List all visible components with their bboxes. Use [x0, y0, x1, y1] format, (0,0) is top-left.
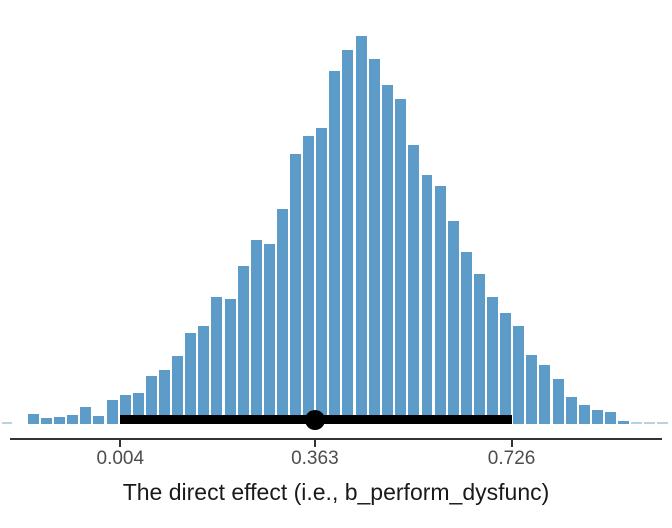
histogram-bar — [592, 410, 603, 424]
histogram-bar — [107, 400, 118, 424]
histogram-bar — [618, 421, 629, 424]
histogram-bar — [526, 355, 537, 424]
histogram-bar — [28, 414, 39, 424]
histogram-bar — [631, 422, 642, 424]
histogram-bar — [329, 71, 340, 424]
histogram-bars — [0, 0, 672, 424]
histogram-bar — [539, 365, 550, 424]
x-axis-tick-label: 0.726 — [488, 448, 536, 470]
histogram-bar — [487, 297, 498, 424]
histogram-bar — [185, 333, 196, 424]
histogram-bar — [277, 209, 288, 424]
histogram-bar — [382, 85, 393, 424]
histogram-bar — [500, 313, 511, 424]
point-estimate-dot — [305, 410, 325, 430]
histogram-bar — [395, 99, 406, 424]
histogram-bar — [316, 128, 327, 424]
histogram-bar — [644, 422, 655, 424]
histogram-bar — [2, 422, 13, 424]
histogram-bar — [251, 240, 262, 424]
histogram-bar — [290, 154, 301, 424]
histogram-bar — [303, 136, 314, 424]
histogram-bar — [225, 299, 236, 424]
x-axis-tick-label: 0.004 — [97, 448, 145, 470]
histogram-bar — [264, 244, 275, 424]
histogram-bar — [238, 266, 249, 424]
histogram-bar — [67, 415, 78, 424]
histogram-bar — [211, 297, 222, 424]
histogram-bar — [54, 417, 65, 424]
x-axis-tick-label: 0.363 — [291, 448, 339, 470]
histogram-bar — [448, 221, 459, 424]
histogram-bar — [553, 379, 564, 424]
histogram-bar — [198, 326, 209, 424]
x-axis-line — [10, 438, 662, 440]
x-axis-title: The direct effect (i.e., b_perform_dysfu… — [0, 479, 672, 506]
histogram-bar — [579, 405, 590, 424]
histogram-bar — [657, 422, 668, 424]
histogram-bar — [369, 59, 380, 424]
histogram-bar — [93, 416, 104, 424]
posterior-histogram-plot: 0.0040.3630.726 The direct effect (i.e.,… — [0, 0, 672, 528]
histogram-bar — [474, 274, 485, 424]
histogram-bar — [356, 36, 367, 424]
histogram-bar — [422, 175, 433, 424]
histogram-bar — [566, 397, 577, 424]
histogram-bar — [513, 326, 524, 424]
histogram-bar — [41, 418, 52, 424]
histogram-bar — [342, 50, 353, 424]
x-axis-tick — [119, 440, 121, 447]
histogram-bar — [605, 412, 616, 424]
histogram-bar — [408, 145, 419, 424]
histogram-bar — [80, 407, 91, 424]
histogram-bar — [172, 356, 183, 424]
histogram-bar — [461, 252, 472, 424]
x-axis-tick — [314, 440, 316, 447]
x-axis-tick — [511, 440, 513, 447]
histogram-bar — [435, 186, 446, 424]
plot-panel — [0, 0, 672, 424]
